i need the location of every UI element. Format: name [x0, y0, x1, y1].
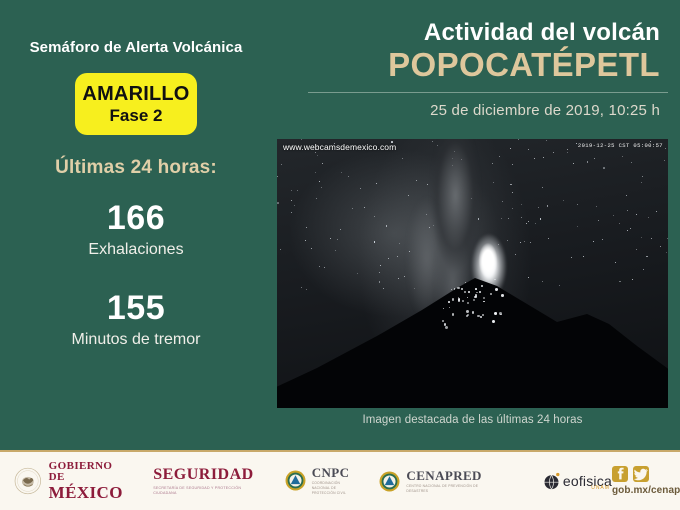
- page-title: POPOCATÉPETL: [290, 47, 668, 83]
- gobierno-text: GOBIERNO DE MÉXICO: [49, 461, 126, 501]
- cenapred-seal-icon: [379, 471, 400, 492]
- cnpc-seal-icon: [285, 470, 306, 491]
- mexican-eagle-seal-icon: [14, 466, 42, 496]
- cenapred-subtitle: CENTRO NACIONAL DE PREVENCIÓN DE DESASTR…: [406, 484, 481, 494]
- cnpc-subtitle: COORDINACIÓN NACIONAL DE PROTECCIÓN CIVI…: [312, 481, 350, 495]
- stat-exhalaciones: 166 Exhalaciones: [0, 201, 272, 259]
- geofisica-text: eofisica UNAM: [563, 474, 612, 488]
- social-icon-row[interactable]: [612, 466, 680, 482]
- seguridad-title: SEGURIDAD: [153, 466, 254, 484]
- seguridad-subtitle: SECRETARÍA DE SEGURIDAD Y PROTECCIÓN CIU…: [153, 486, 254, 497]
- social-url[interactable]: gob.mx/cenapred: [612, 485, 680, 496]
- cenapred-logo: CENAPRED CENTRO NACIONAL DE PREVENCIÓN D…: [379, 469, 481, 494]
- cenapred-acronym: CENAPRED: [406, 469, 481, 482]
- stat-tremor: 155 Minutos de tremor: [0, 291, 272, 349]
- photo-caption: Imagen destacada de las últimas 24 horas: [277, 414, 668, 426]
- cnpc-acronym: CNPC: [312, 466, 350, 479]
- popocatepetl-activity-poster: Semáforo de Alerta Volcánica AMARILLO Fa…: [0, 0, 680, 510]
- facebook-icon[interactable]: [612, 466, 628, 482]
- cnpc-logo: CNPC COORDINACIÓN NACIONAL DE PROTECCIÓN…: [285, 466, 350, 495]
- geofisica-sub: UNAM: [591, 485, 610, 491]
- webcam-timestamp: 2019-12-25 CST 05:00:57: [578, 142, 663, 149]
- twitter-glyph: [633, 466, 649, 482]
- cnpc-text: CNPC COORDINACIÓN NACIONAL DE PROTECCIÓN…: [312, 466, 350, 495]
- volcano-webcam-photo: www.webcamsdemexico.com 2019-12-25 CST 0…: [277, 139, 668, 408]
- report-timestamp: 25 de diciembre de 2019, 10:25 h: [290, 102, 668, 119]
- semaforo-title: Semáforo de Alerta Volcánica: [26, 38, 246, 58]
- stat-value: 155: [0, 291, 272, 327]
- gobierno-de-mexico-logo: GOBIERNO DE MÉXICO: [14, 461, 125, 501]
- social-links[interactable]: gob.mx/cenapred: [612, 466, 680, 496]
- cenapred-text: CENAPRED CENTRO NACIONAL DE PREVENCIÓN D…: [406, 469, 481, 494]
- gobierno-line2: MÉXICO: [49, 484, 126, 501]
- stat-value: 166: [0, 201, 272, 237]
- gobierno-line1: GOBIERNO DE: [49, 461, 126, 483]
- poster-header: Actividad del volcán POPOCATÉPETL 25 de …: [290, 20, 668, 119]
- alert-level-badge: AMARILLO Fase 2: [75, 73, 197, 135]
- period-label: Últimas 24 horas:: [55, 157, 217, 179]
- twitter-icon[interactable]: [633, 466, 649, 482]
- alert-level-text: AMARILLO: [82, 83, 189, 105]
- geofisica-unam-logo: eofisica UNAM: [541, 471, 612, 492]
- stat-label: Minutos de tremor: [0, 330, 272, 349]
- stat-label: Exhalaciones: [0, 240, 272, 259]
- footer-logo-bar: GOBIERNO DE MÉXICO SEGURIDAD SECRETARÍA …: [0, 450, 680, 510]
- seguridad-logo: SEGURIDAD SECRETARÍA DE SEGURIDAD Y PROT…: [153, 466, 254, 497]
- alert-phase-text: Fase 2: [110, 106, 163, 126]
- webcam-watermark: www.webcamsdemexico.com: [283, 142, 396, 152]
- facebook-glyph: [612, 466, 628, 482]
- alert-panel: Semáforo de Alerta Volcánica AMARILLO Fa…: [0, 0, 272, 450]
- header-subtitle: Actividad del volcán: [290, 20, 668, 47]
- geofisica-globe-icon: [541, 471, 562, 492]
- header-divider: [308, 92, 668, 93]
